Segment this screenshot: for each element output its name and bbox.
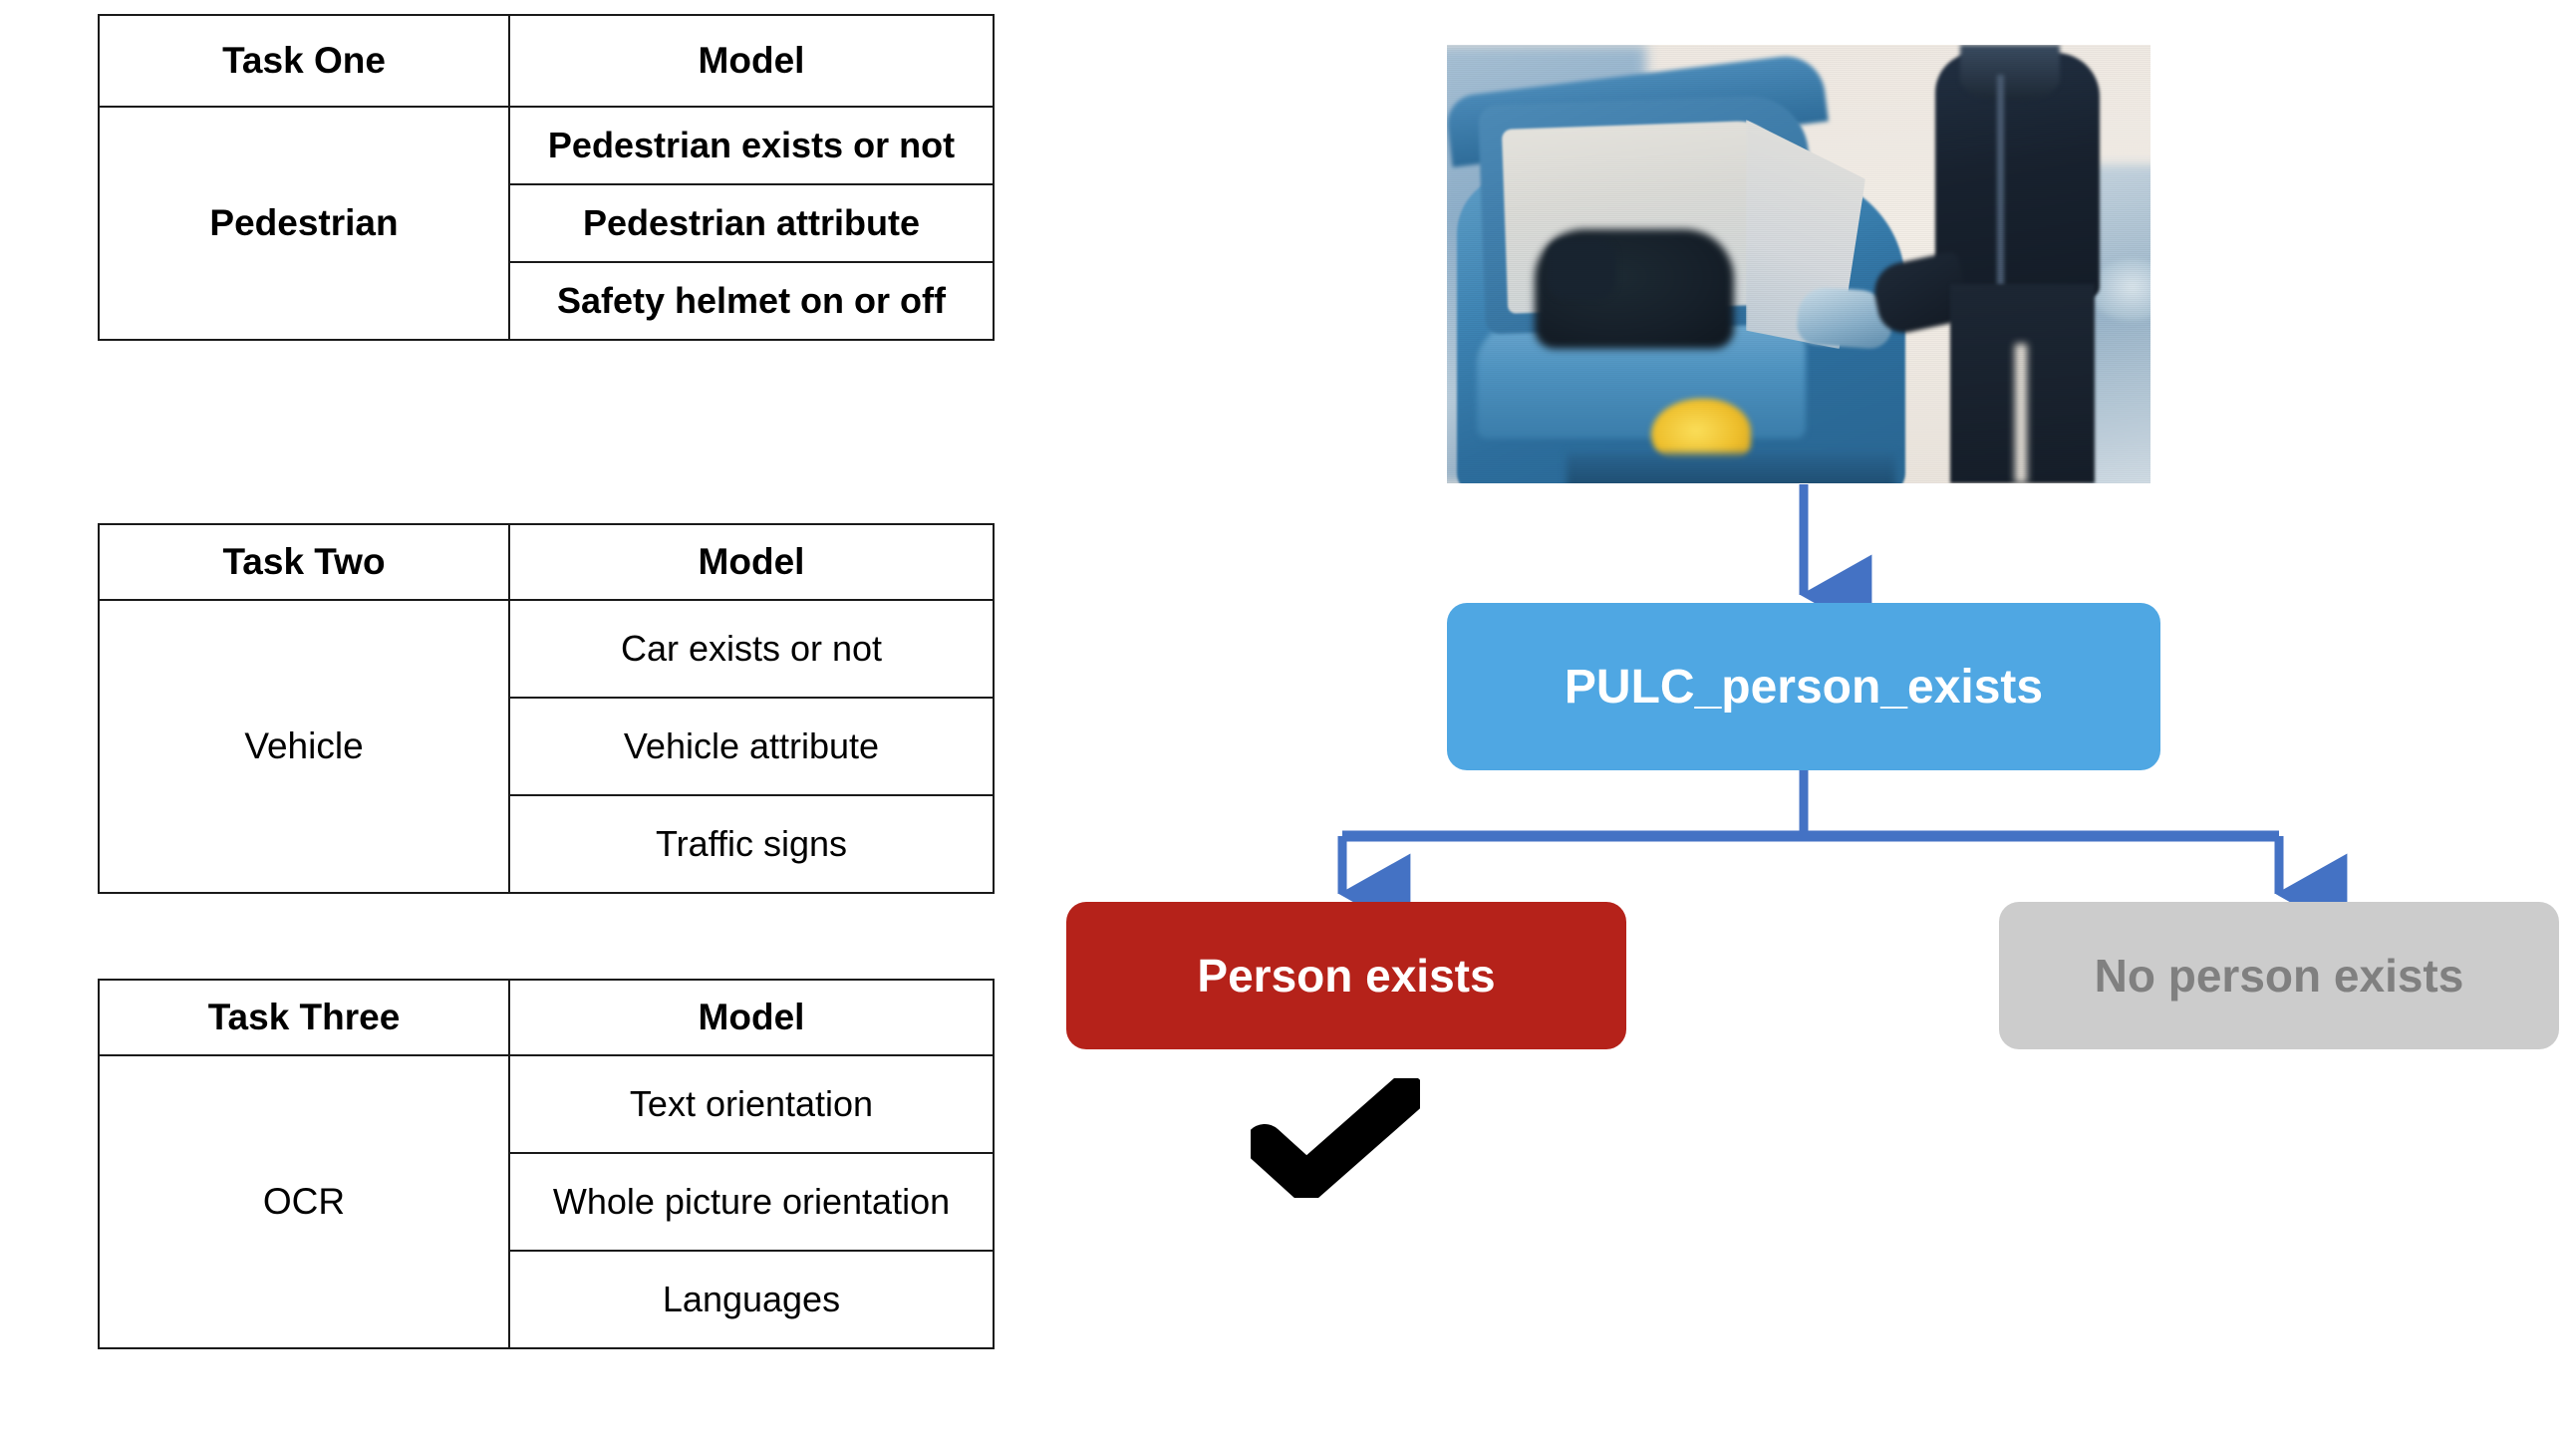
task-two-model-1: Car exists or not: [509, 600, 994, 698]
task-two-category: Vehicle: [99, 600, 509, 893]
table-row: Pedestrian Pedestrian exists or not: [99, 107, 994, 184]
task-three-model-2: Whole picture orientation: [509, 1153, 994, 1251]
input-photo: [1447, 45, 2150, 483]
table-header-row: Task Three Model: [99, 980, 994, 1055]
task-three-header-task: Task Three: [99, 980, 509, 1055]
task-one-model-2: Pedestrian attribute: [509, 184, 994, 262]
task-two-header-model: Model: [509, 524, 994, 600]
check-mark-icon: [1251, 1078, 1420, 1198]
task-two-model-2: Vehicle attribute: [509, 698, 994, 795]
task-three-model-1: Text orientation: [509, 1055, 994, 1153]
task-one-category: Pedestrian: [99, 107, 509, 340]
task-one-table: Task One Model Pedestrian Pedestrian exi…: [98, 14, 995, 341]
table-row: OCR Text orientation: [99, 1055, 994, 1153]
photo-grain-overlay: [1447, 45, 2150, 483]
task-three-header-model: Model: [509, 980, 994, 1055]
task-two-table: Task Two Model Vehicle Car exists or not…: [98, 523, 995, 894]
task-one-header-task: Task One: [99, 15, 509, 107]
task-three-category: OCR: [99, 1055, 509, 1348]
slide-canvas: Task One Model Pedestrian Pedestrian exi…: [0, 0, 2576, 1439]
result-node-no-person-exists[interactable]: No person exists: [1999, 902, 2559, 1049]
table-header-row: Task One Model: [99, 15, 994, 107]
task-one-header-model: Model: [509, 15, 994, 107]
task-three-model-3: Languages: [509, 1251, 994, 1348]
model-node-pulc-person-exists[interactable]: PULC_person_exists: [1447, 603, 2160, 770]
table-header-row: Task Two Model: [99, 524, 994, 600]
task-one-model-3: Safety helmet on or off: [509, 262, 994, 340]
result-node-person-exists[interactable]: Person exists: [1066, 902, 1626, 1049]
task-two-model-3: Traffic signs: [509, 795, 994, 893]
task-three-table: Task Three Model OCR Text orientation Wh…: [98, 979, 995, 1349]
task-two-header-task: Task Two: [99, 524, 509, 600]
table-row: Vehicle Car exists or not: [99, 600, 994, 698]
task-one-model-1: Pedestrian exists or not: [509, 107, 994, 184]
